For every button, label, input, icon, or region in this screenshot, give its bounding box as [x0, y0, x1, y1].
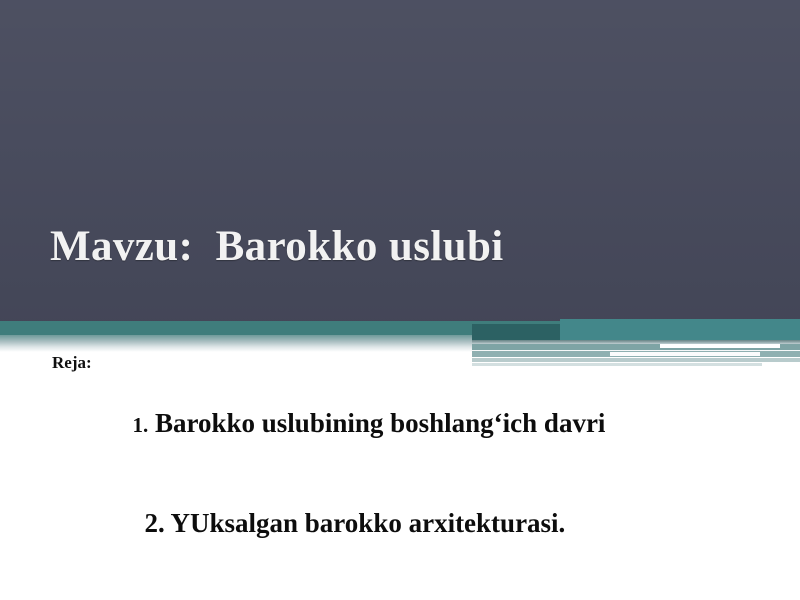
- band-stripe-3: [472, 358, 800, 362]
- agenda-item: 3. Fransiya renessansi davri.: [106, 583, 800, 600]
- title-panel: [0, 0, 800, 321]
- band-dark-block: [472, 324, 562, 340]
- decorative-band: [0, 318, 800, 366]
- agenda-list: 1. Barokko uslubining boshlang‘ich davri…: [0, 383, 800, 600]
- band-light-block: [560, 319, 800, 340]
- agenda-item: 1. Barokko uslubining boshlang‘ich davri: [92, 383, 800, 464]
- agenda-item: 2. YUksalgan barokko arxitekturasi.: [104, 483, 800, 564]
- agenda-label: Reja:: [52, 353, 92, 373]
- title-panel-sheen: [0, 0, 800, 321]
- agenda-item-number: 1.: [133, 413, 149, 437]
- band-stripe-1-gap: [660, 344, 780, 348]
- slide-title: Mavzu: Barokko uslubi: [50, 224, 504, 269]
- agenda-item-number: 2.: [145, 508, 165, 538]
- slide-canvas: Mavzu: Barokko uslubi Reja: 1. Barokko u…: [0, 0, 800, 600]
- agenda-item-text: YUksalgan barokko arxitekturasi.: [165, 508, 566, 538]
- band-stripe-4: [472, 363, 762, 366]
- agenda-item-text: Barokko uslubining boshlang‘ich davri: [148, 408, 605, 438]
- band-stripe-2-gap: [610, 352, 760, 356]
